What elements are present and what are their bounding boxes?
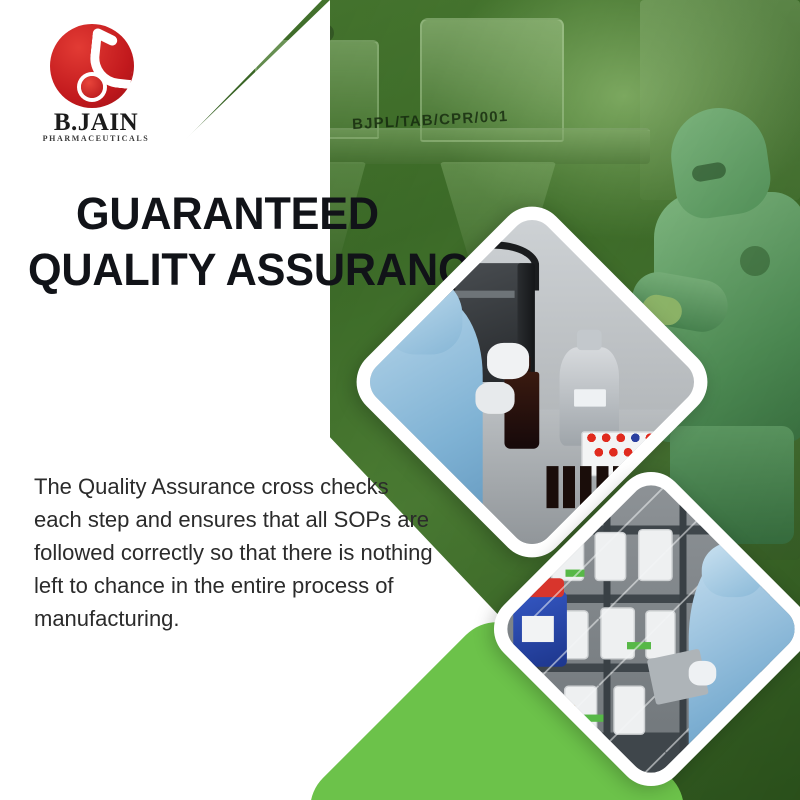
headline-line-2: QUALITY ASSURANCE [28, 242, 431, 298]
canister-label [574, 389, 606, 407]
store-technician-glove [689, 660, 717, 685]
lab-technician-glove-upper [486, 343, 528, 378]
canister-cap [578, 329, 603, 350]
headline-line-1: GUARANTEED [76, 186, 433, 242]
poster-canvas: BJPL/TAB/CPR/001 B.JAIN PHARMACEUTICALS … [0, 0, 800, 800]
body-copy: The Quality Assurance cross checks each … [34, 470, 434, 635]
brand-logo: B.JAIN PHARMACEUTICALS [38, 24, 154, 142]
body-paragraph: The Quality Assurance cross checks each … [34, 470, 434, 635]
brand-name: B.JAIN [38, 110, 154, 135]
page-title: GUARANTEED QUALITY ASSURANCE [28, 186, 448, 298]
lab-technician-glove-lower [476, 382, 515, 414]
bjain-flame-circle-logo-icon [50, 24, 134, 108]
filling-machine-vent [451, 291, 514, 298]
brand-tagline: PHARMACEUTICALS [38, 134, 154, 143]
logo-dot [81, 76, 103, 98]
